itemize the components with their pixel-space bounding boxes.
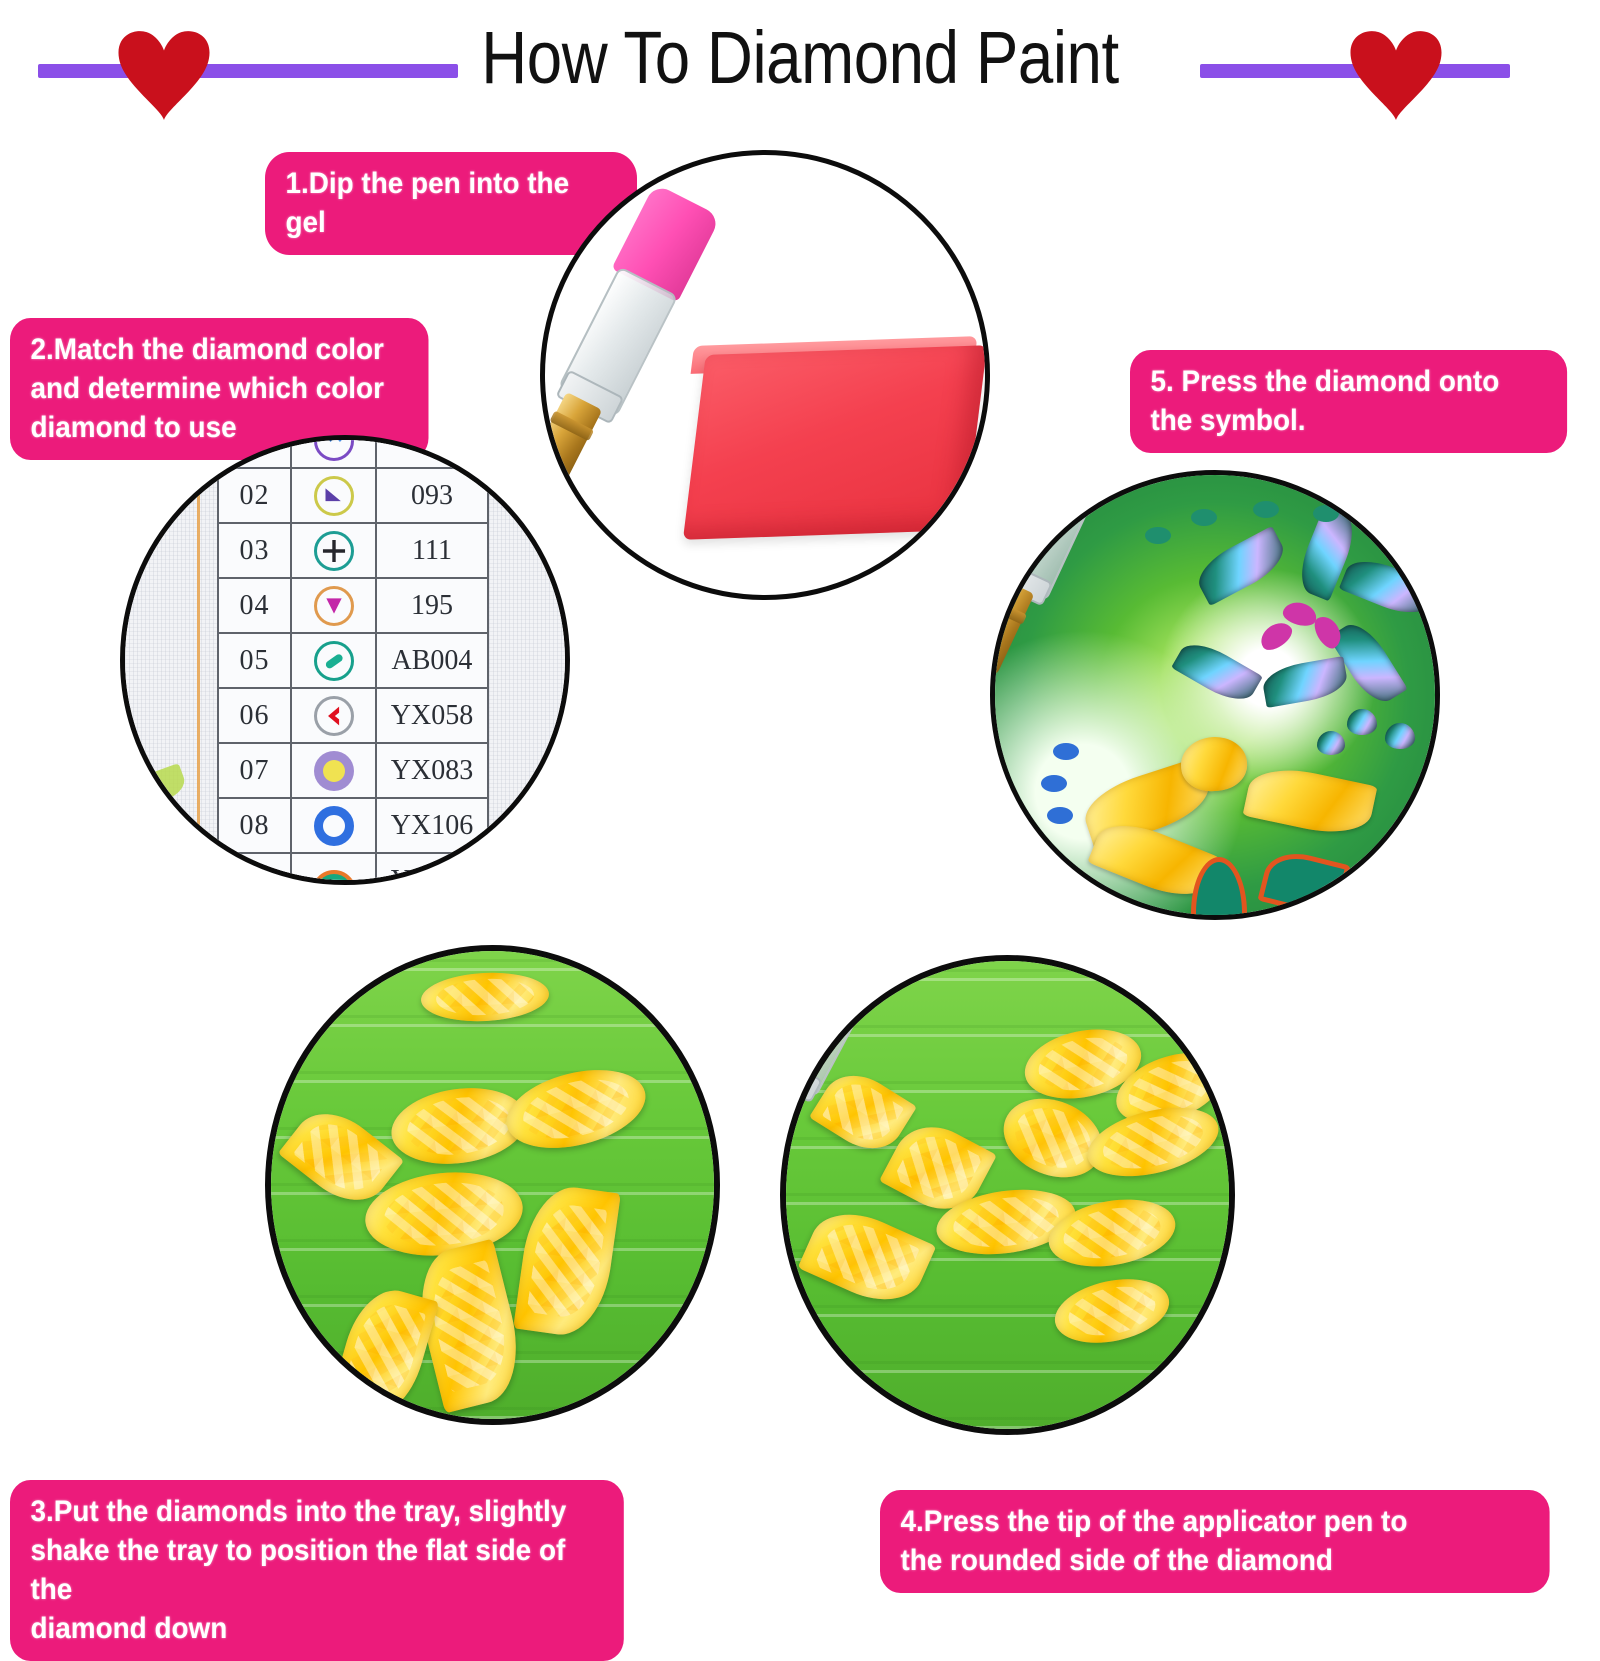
- row-index: 02: [218, 468, 291, 523]
- header: How To Diamond Paint: [0, 0, 1600, 130]
- row-index: 09: [218, 853, 291, 885]
- triangle-magenta-icon: [314, 586, 354, 626]
- mandala-canvas-photo: [990, 470, 1440, 920]
- diamonds-in-tray-photo: [265, 945, 720, 1425]
- triangle-purple-icon: [314, 476, 354, 516]
- row-index: 07: [218, 743, 291, 798]
- table-row: 026: [218, 435, 488, 468]
- row-code: 195: [376, 578, 488, 633]
- table-row: 09 YX125: [218, 853, 488, 885]
- row-code: AB004: [376, 633, 488, 688]
- pen-dipping-in-gel-photo: [540, 150, 990, 600]
- row-index: 04: [218, 578, 291, 633]
- gel-block: [683, 345, 987, 540]
- printed-dot: [1191, 509, 1217, 526]
- double-diamond-purple-icon: [314, 435, 354, 461]
- printed-dot: [1053, 743, 1079, 760]
- row-symbol: [291, 523, 376, 578]
- row-symbol: [291, 688, 376, 743]
- placed-gem: [1347, 709, 1377, 735]
- printed-dot: [1041, 775, 1067, 792]
- step-label-3: 3.Put the diamonds into the tray, slight…: [10, 1480, 624, 1661]
- table-row: 08 YX106: [218, 798, 488, 853]
- dot-yellow-purple-ring-icon: [314, 751, 354, 791]
- row-index: 06: [218, 688, 291, 743]
- row-index: 05: [218, 633, 291, 688]
- printed-dot: [1145, 527, 1171, 544]
- capsule-teal-icon: [314, 641, 354, 681]
- plus-teal-icon: [314, 531, 354, 571]
- row-index: 08: [218, 798, 291, 853]
- row-symbol: [291, 578, 376, 633]
- ring-blue-icon: [314, 806, 354, 846]
- row-code: YX125: [376, 853, 488, 885]
- row-symbol: [291, 743, 376, 798]
- table-row: 06 YX058: [218, 688, 488, 743]
- row-code: 093: [376, 468, 488, 523]
- row-index: 03: [218, 523, 291, 578]
- placed-gem: [1385, 723, 1415, 749]
- table-row: 03 111: [218, 523, 488, 578]
- row-code: YX106: [376, 798, 488, 853]
- infographic-canvas: How To Diamond Paint 1.Dip the pen into …: [0, 0, 1600, 1600]
- row-code: 111: [376, 523, 488, 578]
- leaf-green-orange-icon: [314, 861, 354, 886]
- chart-guide-line: [197, 440, 200, 880]
- row-index: [218, 435, 291, 468]
- printed-dot: [1313, 505, 1339, 522]
- step-label-5: 5. Press the diamond onto the symbol.: [1130, 350, 1567, 453]
- row-code: 026: [376, 435, 488, 468]
- row-symbol: [291, 853, 376, 885]
- table-row: 07 YX083: [218, 743, 488, 798]
- row-code: YX083: [376, 743, 488, 798]
- table-row: 02 093: [218, 468, 488, 523]
- row-symbol: [291, 468, 376, 523]
- pen-picking-diamond-photo: [780, 955, 1235, 1435]
- row-code: YX058: [376, 688, 488, 743]
- step-label-4: 4.Press the tip of the applicator pen to…: [880, 1490, 1550, 1593]
- row-symbol: [291, 435, 376, 468]
- printed-dot: [1253, 501, 1279, 518]
- color-symbol-table: 026 02 093 03: [217, 435, 489, 885]
- row-symbol: [291, 798, 376, 853]
- placed-gem: [1317, 731, 1345, 755]
- color-symbol-chart-photo: 026 02 093 03: [120, 435, 570, 885]
- printed-dot: [1047, 807, 1073, 824]
- table-row: 05 AB004: [218, 633, 488, 688]
- table-row: 04 195: [218, 578, 488, 633]
- row-symbol: [291, 633, 376, 688]
- chevron-red-icon: [314, 696, 354, 736]
- page-title: How To Diamond Paint: [112, 16, 1488, 100]
